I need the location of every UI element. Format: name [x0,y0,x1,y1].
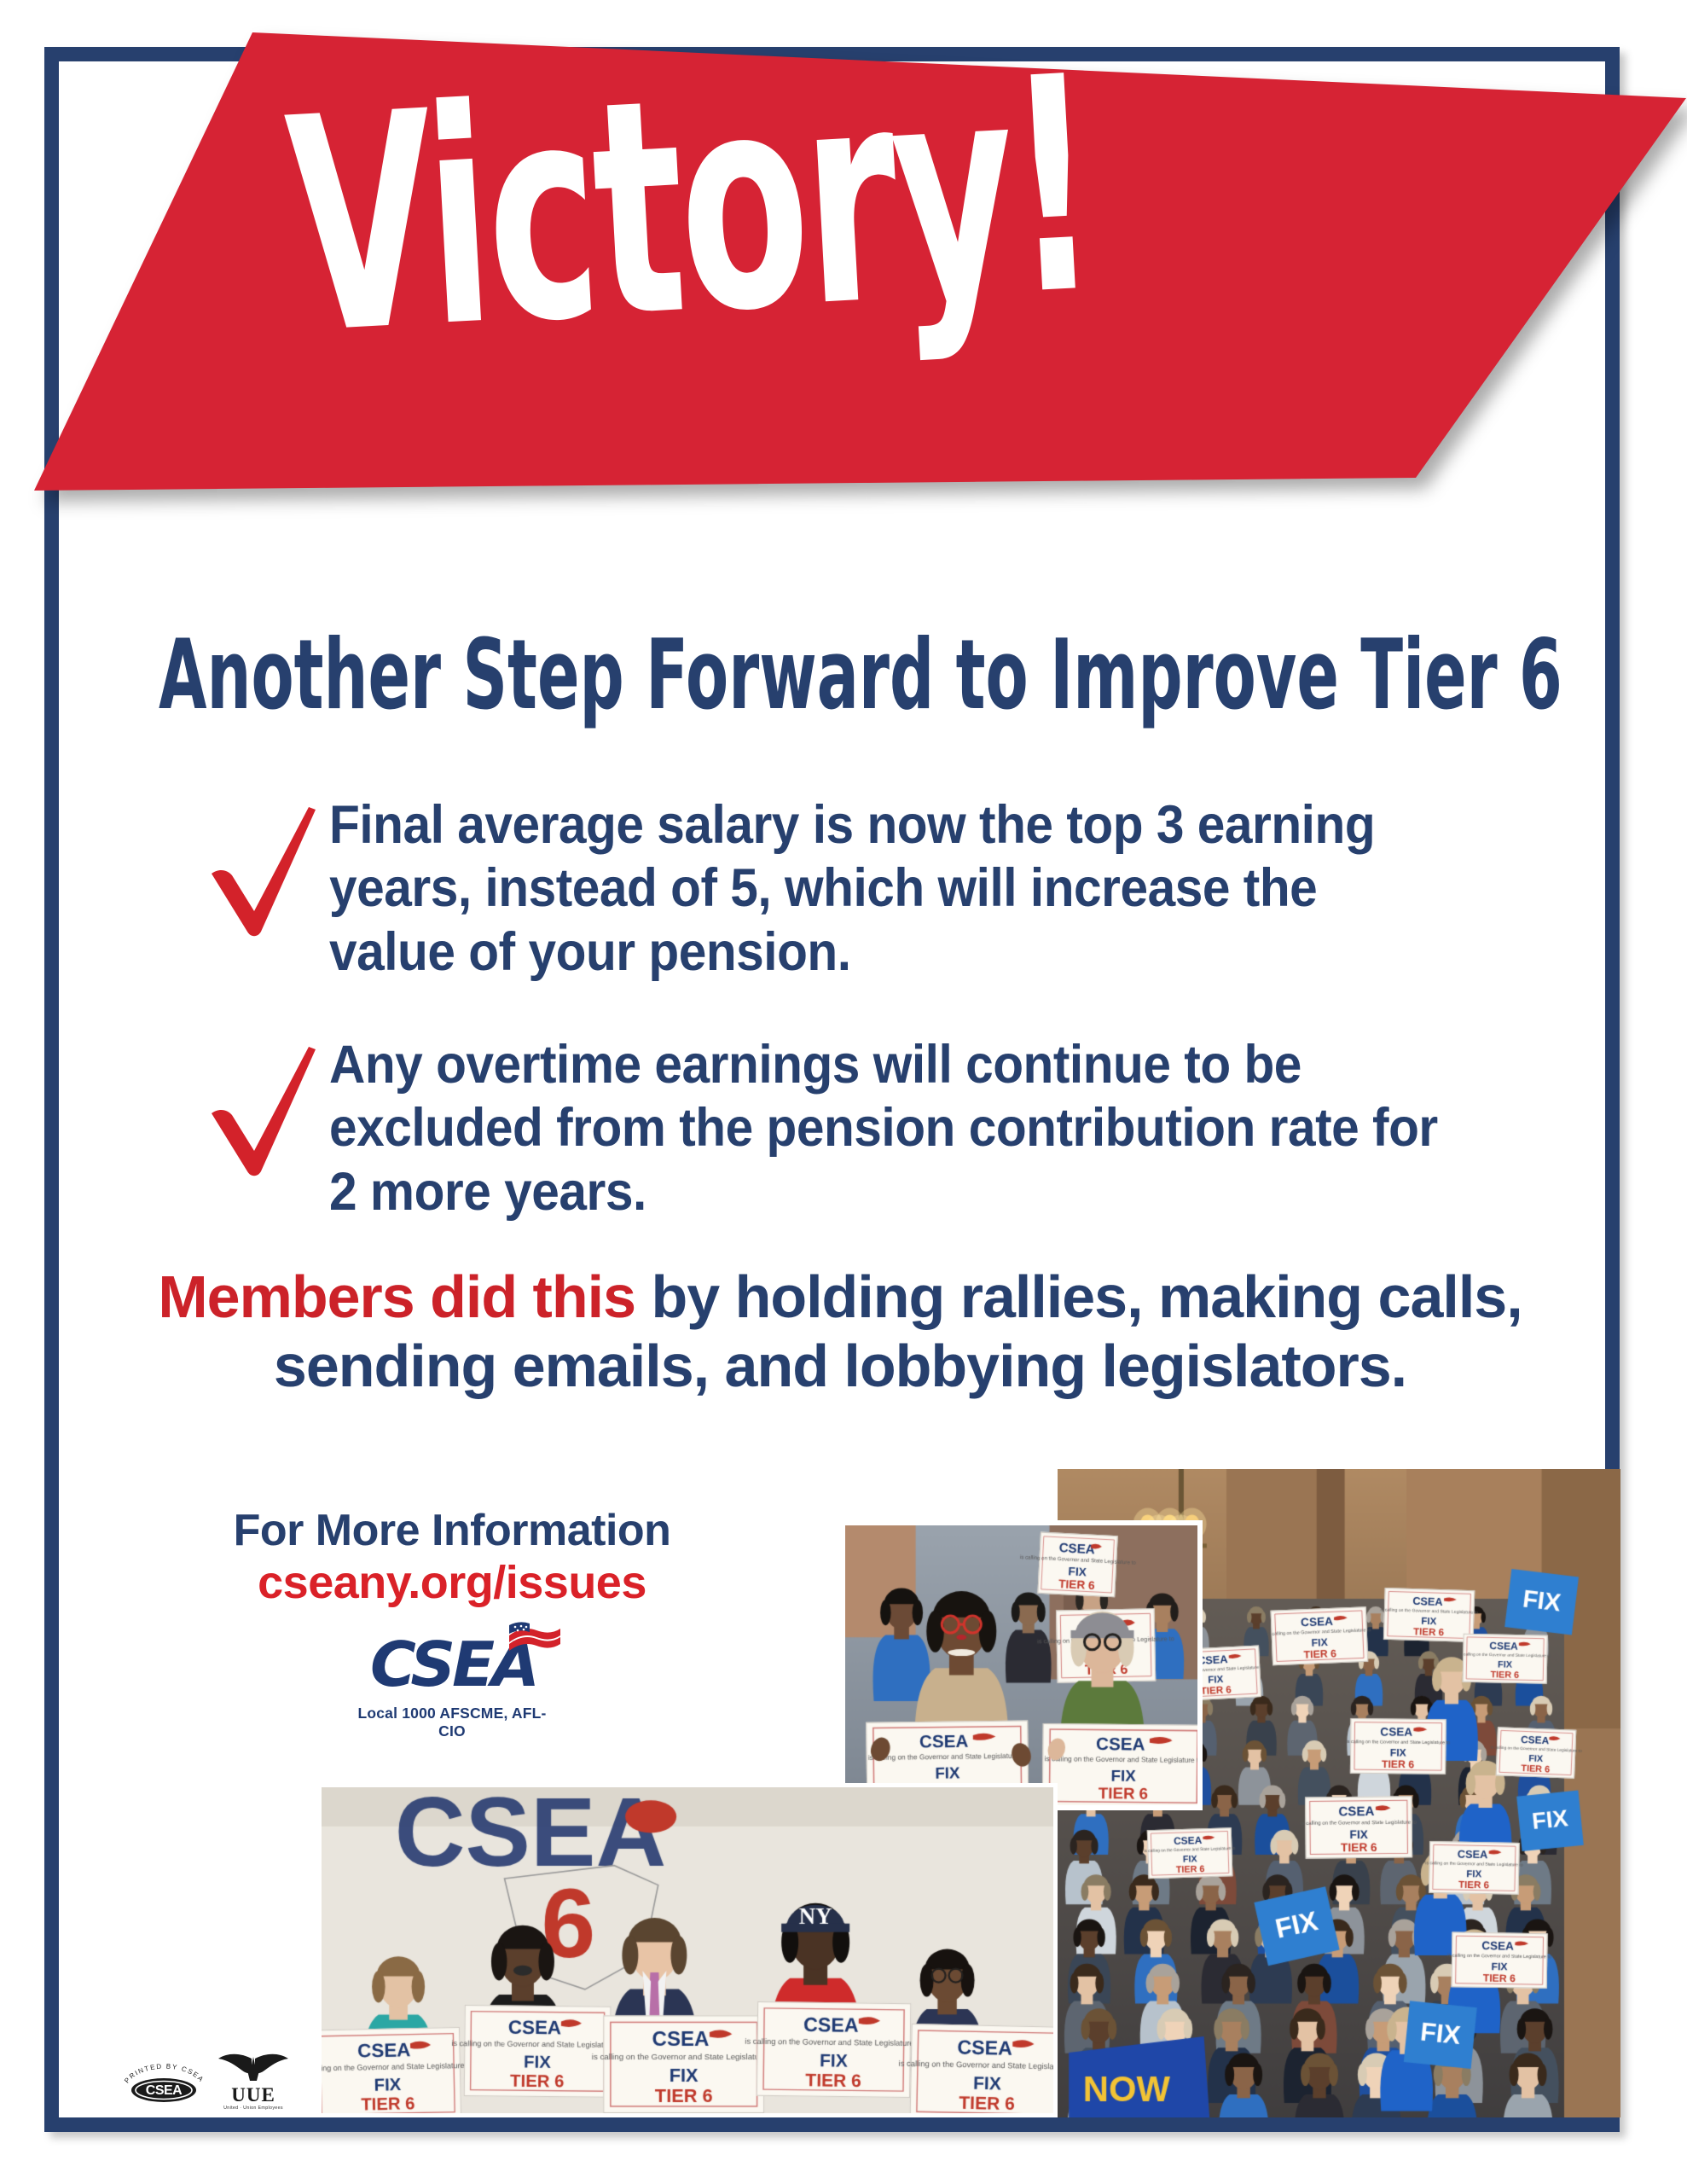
union-bug-group: PRINTED BY CSEA CSEA UUE United · Union … [119,2046,290,2119]
bullet-text: Final average salary is now the top 3 ea… [329,793,1447,984]
bullet-list: Final average salary is now the top 3 ea… [201,793,1532,1273]
members-statement-highlight: Members did this [158,1263,635,1330]
more-info-block: For More Information cseany.org/issues C… [213,1506,691,1740]
american-flag-icon [507,1622,562,1659]
more-info-url[interactable]: cseany.org/issues [213,1557,691,1610]
page-title: Another Step Forward to Improve Tier 6 [159,627,1201,724]
svg-text:CSEA: CSEA [146,2083,183,2098]
svg-text:UUE: UUE [231,2084,275,2106]
csea-wordmark-row: CSEA [354,1634,550,1700]
bullet-text: Any overtime earnings will continue to b… [329,1033,1447,1223]
flyer-page: Victory! Another Step Forward to Improve… [0,0,1687,2184]
bullet-item: Any overtime earnings will continue to b… [201,1033,1532,1223]
bullet-item: Final average salary is now the top 3 ea… [201,793,1532,984]
more-info-label: For More Information [213,1506,691,1555]
members-statement: Members did this by holding rallies, mak… [77,1263,1603,1401]
checkmark-icon [201,802,329,938]
csea-tagline: Local 1000 AFSCME, AFL-CIO [354,1705,550,1740]
uue-eagle-bug: UUE United · Union Employees [217,2050,290,2115]
svg-text:United · Union Employees: United · Union Employees [223,2106,283,2111]
csea-logo: CSEA Local 1000 AFSCME, AFL-CIO [354,1634,550,1740]
printed-by-csea-bug: PRINTED BY CSEA CSEA [119,2058,208,2107]
checkmark-icon [201,1042,329,1178]
